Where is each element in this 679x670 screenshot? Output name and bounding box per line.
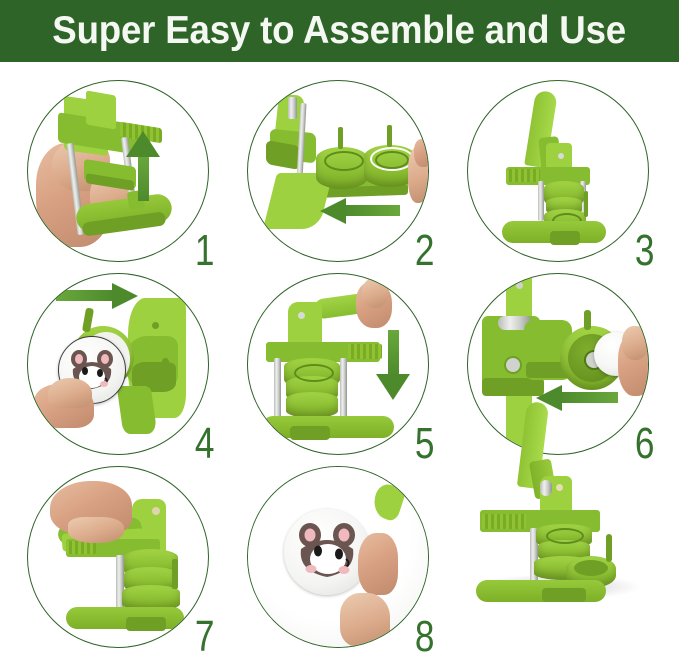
step-panel-4: 4 [8,267,228,460]
step-circle-3 [467,80,649,262]
page-title: Super Easy to Assemble and Use [53,9,627,53]
step-circle-1 [27,80,209,262]
header-banner: Super Easy to Assemble and Use [0,0,679,62]
hand-placing-badge-graphic-icon [28,274,208,454]
hand-holding-press-icon [28,81,208,261]
step-circle-2 [247,80,429,262]
finished-bear-badge-icon [248,467,428,647]
hand-pushing-lever-icon [28,467,208,647]
hand-pressing-handle-icon [248,274,428,454]
step-panel-5: 5 [228,267,448,460]
assembled-button-press-icon [468,81,648,261]
step-circle-7 [27,466,209,648]
step-number: 8 [414,615,434,659]
step-panel-8: 8 [228,460,448,653]
step-circle-4 [27,273,209,455]
step-panel-1: 1 [8,74,228,267]
step-panel-3: 3 [448,74,668,267]
step-circle-5 [247,273,429,455]
step-panel-2: 2 [228,74,448,267]
two-molds-on-track-icon [248,81,428,261]
step-number: 7 [194,615,214,659]
step-circle-8 [247,466,429,648]
step-panel-7: 7 [8,460,228,653]
product-hero-photo [448,398,679,608]
bear-face-art [284,509,370,595]
